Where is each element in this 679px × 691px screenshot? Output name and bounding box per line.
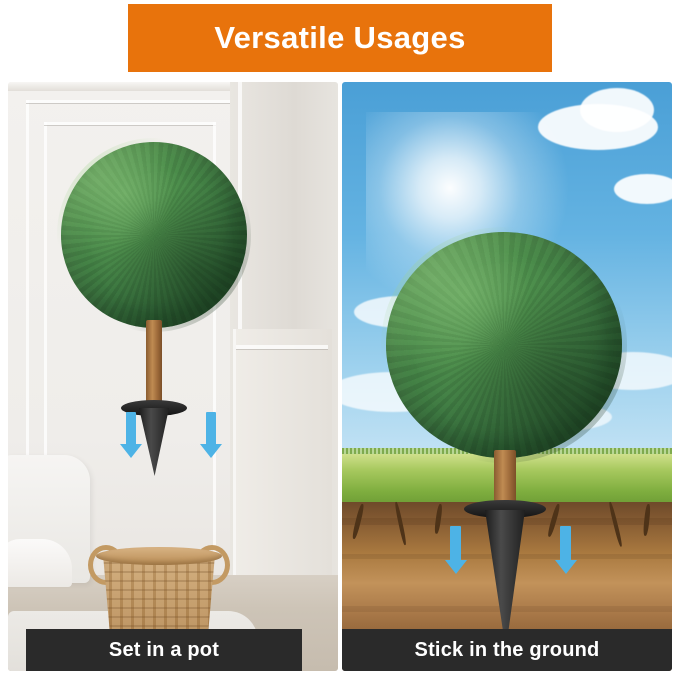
panel-stick-in-the-ground: Stick in the ground	[342, 82, 672, 671]
panel-set-in-a-pot: Set in a pot	[8, 82, 338, 671]
basket-rim	[96, 547, 222, 565]
sofa-arm	[8, 539, 72, 587]
arrow-head	[445, 560, 467, 574]
foliage-ball	[386, 232, 622, 458]
cloud	[580, 88, 654, 132]
caption-text-right: Stick in the ground	[415, 639, 600, 662]
caption-text-left: Set in a pot	[109, 639, 219, 662]
wall-panel-line	[26, 100, 236, 103]
fireplace-mantel	[233, 329, 332, 579]
arrow-shaft	[126, 412, 136, 446]
caption-bar-left: Set in a pot	[26, 629, 302, 671]
arrow-shaft	[450, 526, 461, 562]
cloud	[614, 174, 672, 204]
product-infographic: Versatile Usages	[0, 0, 679, 691]
arrow-shaft	[206, 412, 216, 446]
tree-trunk	[146, 320, 162, 406]
arrow-head	[120, 444, 142, 458]
tree-trunk	[494, 450, 516, 506]
indoor-room-scene	[8, 82, 338, 671]
caption-bar-right: Stick in the ground	[342, 629, 672, 671]
arrow-head	[200, 444, 222, 458]
outdoor-scene	[342, 82, 672, 671]
wall-panel-line	[44, 122, 216, 125]
foliage-ball	[61, 142, 247, 328]
page-title: Versatile Usages	[214, 20, 465, 56]
arrow-head	[555, 560, 577, 574]
panels-container: Set in a pot	[0, 82, 679, 677]
header-banner: Versatile Usages	[128, 4, 552, 72]
ground-spike	[139, 408, 169, 476]
arrow-shaft	[560, 526, 571, 562]
mantel-edge	[236, 345, 328, 349]
